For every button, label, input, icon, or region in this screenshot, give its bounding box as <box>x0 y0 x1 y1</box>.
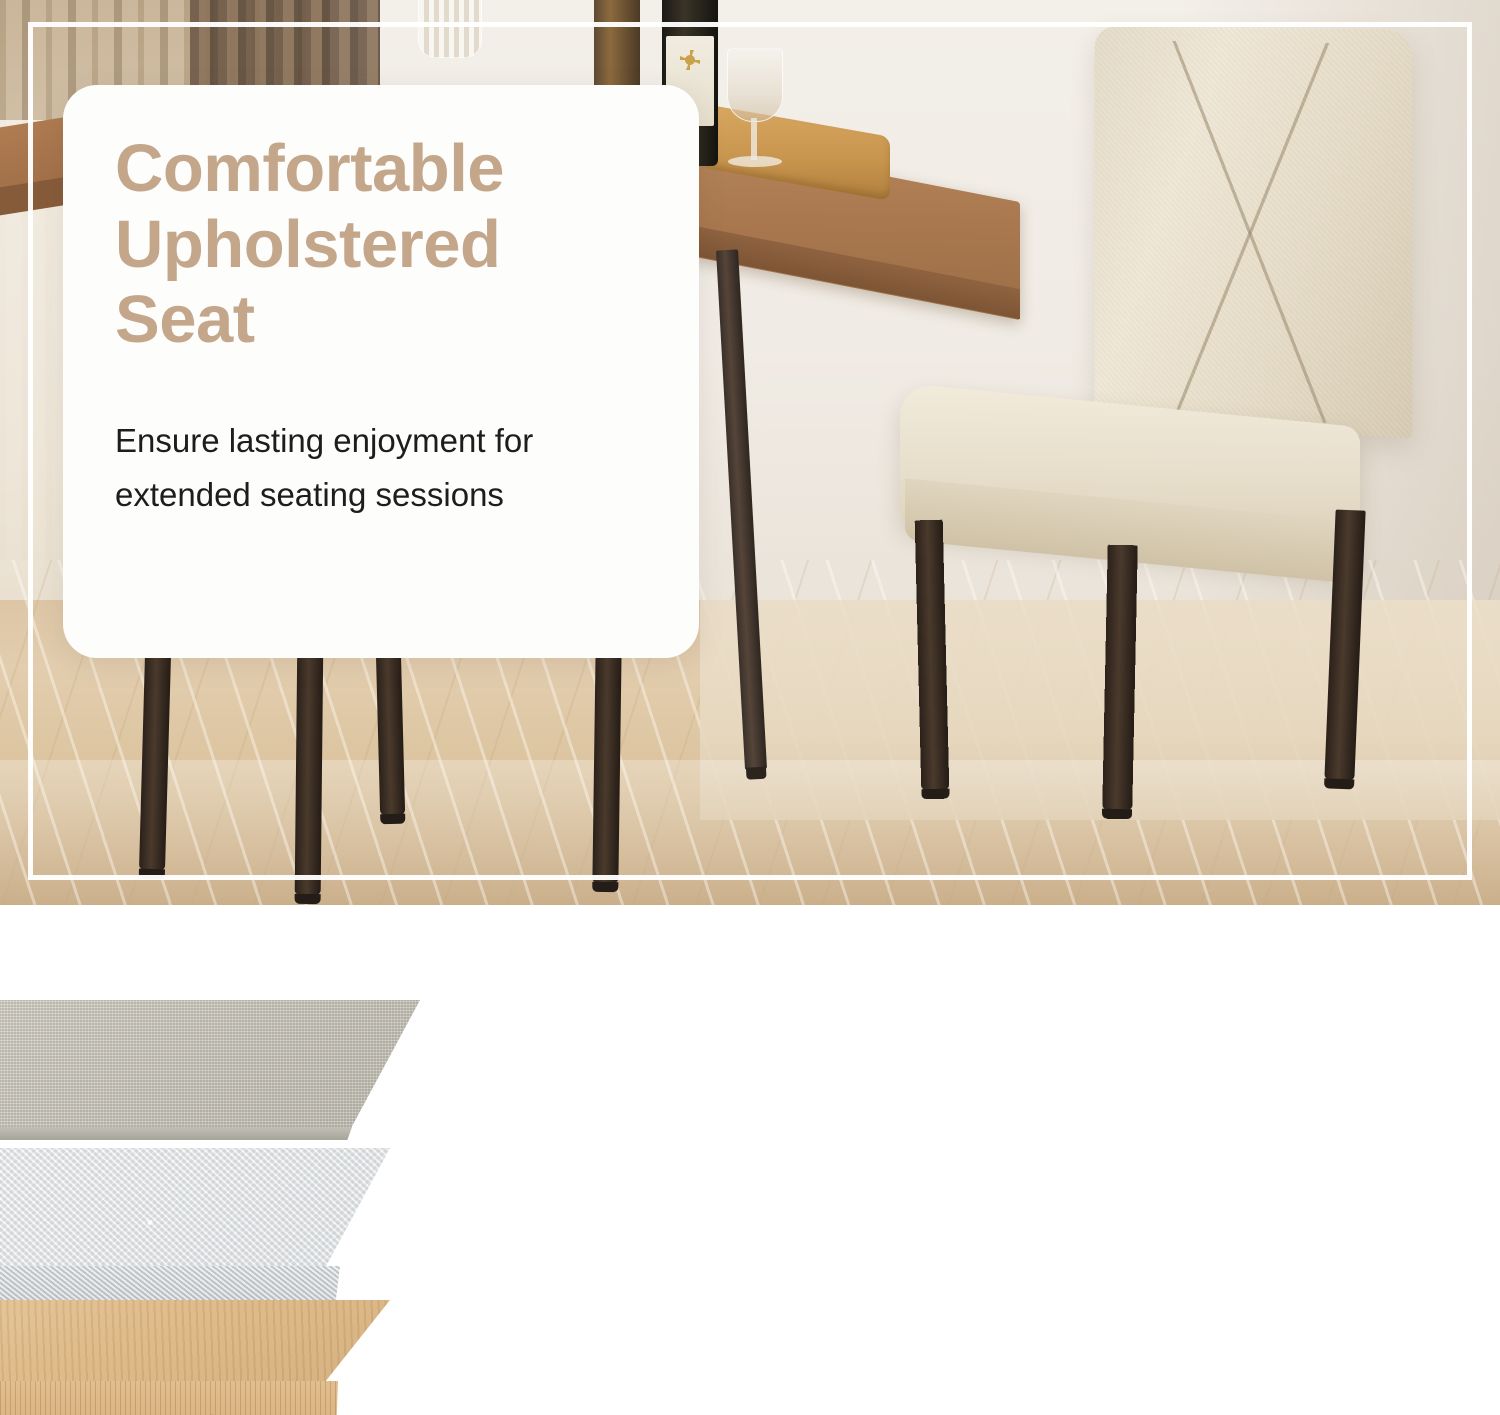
product-feature-page: Comfortable Upholstered Seat Ensure last… <box>0 0 1500 1415</box>
acacia-wood-edge <box>0 1381 338 1415</box>
chair-backrest <box>1095 26 1413 438</box>
chair-leg <box>592 648 621 883</box>
wood-grain-knot <box>185 1392 239 1415</box>
material-layers-diagram <box>0 1000 920 1415</box>
glass-vase <box>418 0 482 58</box>
wine-glass-foot <box>728 156 782 167</box>
chair-leg <box>376 650 405 816</box>
floor-gloss-reflection <box>0 760 1500 905</box>
linen-fabric-edge <box>0 1127 352 1140</box>
chair-leg <box>1102 545 1138 811</box>
wine-glass-stem <box>751 118 757 160</box>
wine-glass-bowl <box>727 48 783 122</box>
materials-and-features-section: Linen Fabric Thick Sponge Solid Acacia W… <box>0 905 1500 1415</box>
thick-sponge-edge <box>0 1266 340 1302</box>
card-title: Comfortable Upholstered Seat <box>115 131 647 358</box>
acacia-wood-slab <box>0 1300 390 1382</box>
thick-sponge-slab <box>0 1148 390 1268</box>
headline-card: Comfortable Upholstered Seat Ensure last… <box>63 85 699 658</box>
card-subtitle: Ensure lasting enjoyment for extended se… <box>115 414 647 521</box>
linen-fabric-slab <box>0 1000 420 1128</box>
chair-leg <box>295 640 324 895</box>
